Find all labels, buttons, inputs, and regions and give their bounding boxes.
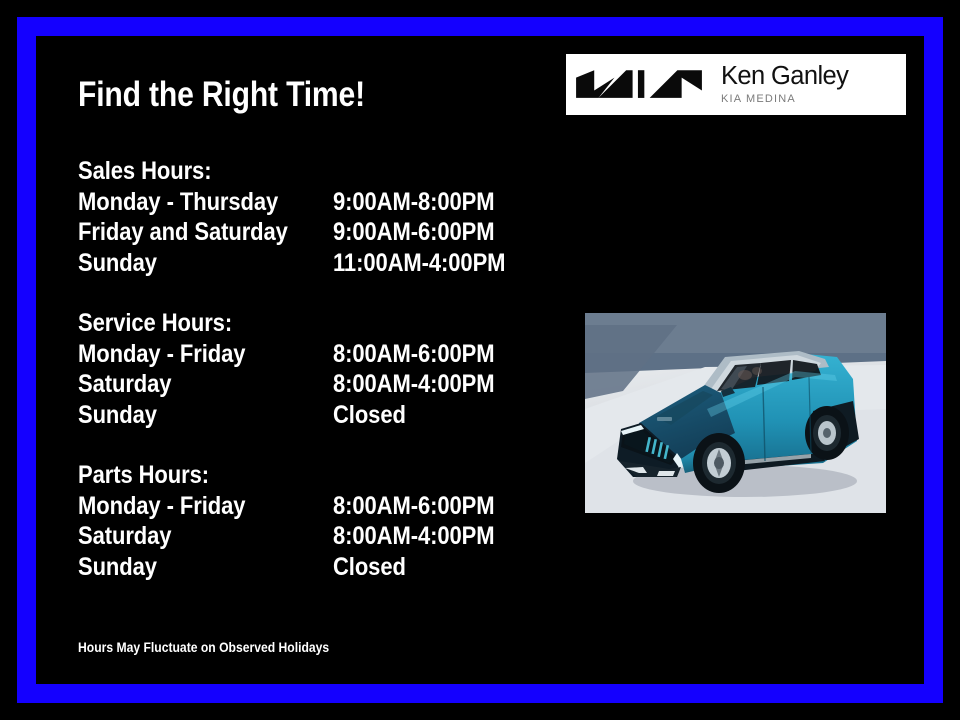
hours-block-parts: Parts Hours: Monday - Friday 8:00AM-6:00… bbox=[78, 460, 548, 582]
hours-row: Saturday 8:00AM-4:00PM bbox=[78, 521, 548, 552]
hours-row-time: 8:00AM-4:00PM bbox=[333, 521, 494, 552]
slide-canvas: Find the Right Time! Sales Hours: Monday… bbox=[0, 0, 960, 720]
hours-row-time: 11:00AM-4:00PM bbox=[333, 248, 505, 279]
hours-row: Sunday Closed bbox=[78, 400, 548, 431]
hours-row-day: Monday - Thursday bbox=[78, 187, 278, 218]
hours-row: Monday - Friday 8:00AM-6:00PM bbox=[78, 339, 548, 370]
dealer-logo-banner: Ken Ganley KIA MEDINA bbox=[566, 54, 906, 115]
block-heading-label: Parts Hours: bbox=[78, 460, 209, 491]
hours-row: Sunday 11:00AM-4:00PM bbox=[78, 248, 548, 279]
hours-row-time: 8:00AM-4:00PM bbox=[333, 369, 494, 400]
block-heading-label: Sales Hours: bbox=[78, 156, 211, 187]
dealer-text-block: Ken Ganley KIA MEDINA bbox=[721, 64, 848, 106]
page-title: Find the Right Time! bbox=[78, 77, 365, 114]
hours-row-time: 9:00AM-8:00PM bbox=[333, 187, 494, 218]
hours-row: Friday and Saturday 9:00AM-6:00PM bbox=[78, 217, 548, 248]
hours-row-day: Sunday bbox=[78, 400, 157, 431]
hours-block-sales: Sales Hours: Monday - Thursday 9:00AM-8:… bbox=[78, 156, 548, 278]
block-heading: Parts Hours: bbox=[78, 460, 548, 491]
hours-row-time: Closed bbox=[333, 552, 406, 583]
hours-row-day: Saturday bbox=[78, 369, 171, 400]
hours-row-time: 8:00AM-6:00PM bbox=[333, 491, 494, 522]
hours-row-time: 9:00AM-6:00PM bbox=[333, 217, 494, 248]
holiday-disclaimer: Hours May Fluctuate on Observed Holidays bbox=[78, 640, 329, 655]
hours-row: Sunday Closed bbox=[78, 552, 548, 583]
hours-row: Monday - Friday 8:00AM-6:00PM bbox=[78, 491, 548, 522]
hours-row-day: Saturday bbox=[78, 521, 171, 552]
hours-row: Saturday 8:00AM-4:00PM bbox=[78, 369, 548, 400]
block-heading: Sales Hours: bbox=[78, 156, 548, 187]
hours-row-day: Monday - Friday bbox=[78, 491, 245, 522]
hours-row-day: Sunday bbox=[78, 248, 157, 279]
hours-row-day: Sunday bbox=[78, 552, 157, 583]
dealer-name: Ken Ganley bbox=[721, 64, 848, 90]
hours-row-time: Closed bbox=[333, 400, 406, 431]
hours-row-time: 8:00AM-6:00PM bbox=[333, 339, 494, 370]
block-heading: Service Hours: bbox=[78, 308, 548, 339]
block-heading-label: Service Hours: bbox=[78, 308, 232, 339]
dealer-location: KIA MEDINA bbox=[721, 93, 848, 105]
hours-row: Monday - Thursday 9:00AM-8:00PM bbox=[78, 187, 548, 218]
hours-row-day: Monday - Friday bbox=[78, 339, 245, 370]
kia-logo-icon bbox=[575, 67, 703, 102]
hours-row-day: Friday and Saturday bbox=[78, 217, 288, 248]
hours-block-service: Service Hours: Monday - Friday 8:00AM-6:… bbox=[78, 308, 548, 430]
hours-list: Sales Hours: Monday - Thursday 9:00AM-8:… bbox=[78, 156, 548, 582]
vehicle-photo bbox=[585, 313, 886, 513]
